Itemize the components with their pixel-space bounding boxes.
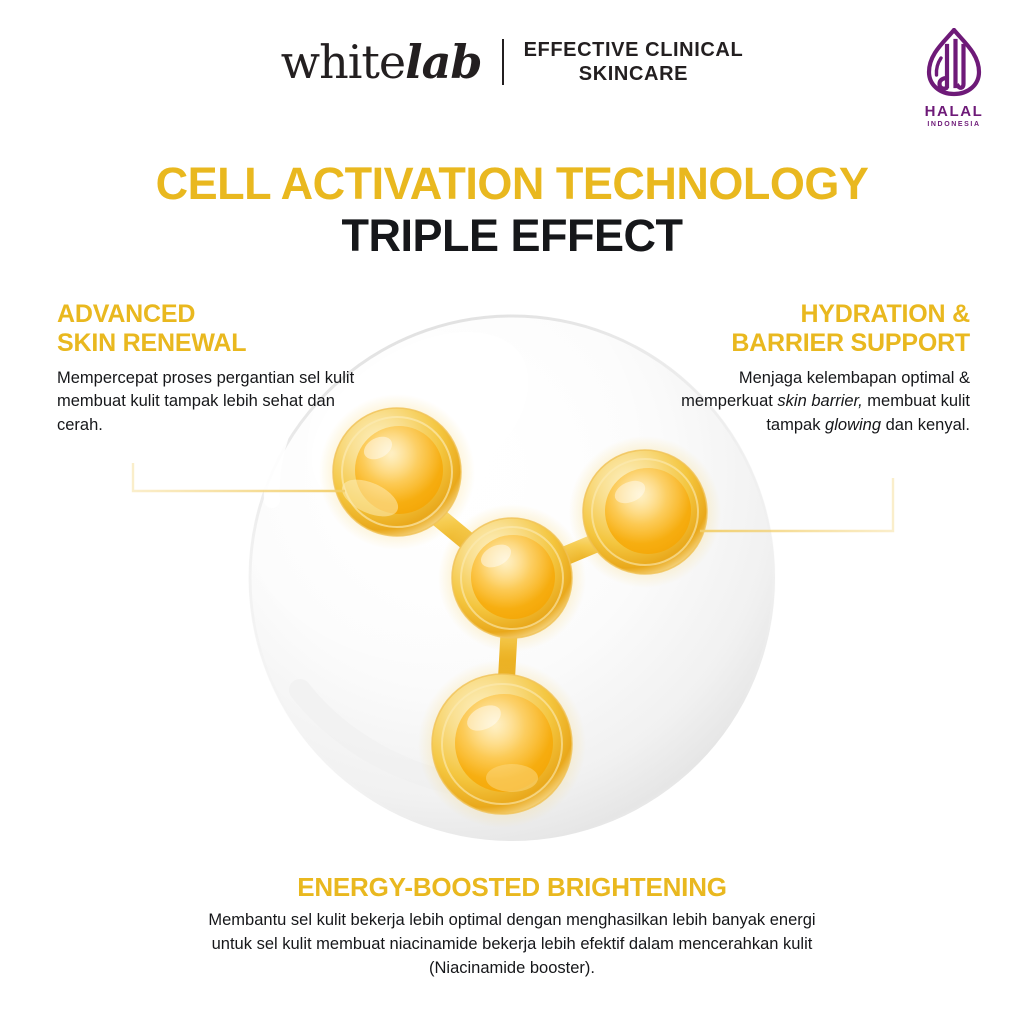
callout-right-title: HYDRATION & BARRIER SUPPORT bbox=[665, 300, 970, 358]
callout-right-body-italic-1: skin barrier, bbox=[777, 392, 862, 410]
callout-energy-boosted-brightening: ENERGY-BOOSTED BRIGHTENING Membantu sel … bbox=[0, 872, 1024, 981]
infographic-canvas: whitelab EFFECTIVE CLINICAL SKINCARE HAL… bbox=[0, 0, 1024, 1024]
callout-right-title-line-2: BARRIER SUPPORT bbox=[665, 329, 970, 358]
callout-right-body: Menjaga kelembapan optimal & memperkuat … bbox=[665, 367, 970, 437]
callout-bottom-title: ENERGY-BOOSTED BRIGHTENING bbox=[0, 872, 1024, 902]
leader-line-left bbox=[133, 463, 345, 491]
callout-left-title-line-2: SKIN RENEWAL bbox=[57, 329, 357, 358]
callout-right-body-italic-2: glowing bbox=[825, 416, 881, 434]
callout-left-body: Mempercepat proses pergantian sel kulit … bbox=[57, 367, 357, 437]
callout-bottom-body: Membantu sel kulit bekerja lebih optimal… bbox=[202, 909, 822, 981]
callout-leader-lines bbox=[0, 0, 1024, 1024]
callout-right-title-line-1: HYDRATION & bbox=[665, 300, 970, 329]
callout-right-body-part-3: dan kenyal. bbox=[881, 416, 970, 434]
callout-hydration-barrier-support: HYDRATION & BARRIER SUPPORT Menjaga kele… bbox=[665, 300, 970, 437]
callout-left-title: ADVANCED SKIN RENEWAL bbox=[57, 300, 357, 358]
callout-advanced-skin-renewal: ADVANCED SKIN RENEWAL Mempercepat proses… bbox=[57, 300, 357, 437]
leader-line-right bbox=[700, 478, 893, 531]
callout-left-title-line-1: ADVANCED bbox=[57, 300, 357, 329]
